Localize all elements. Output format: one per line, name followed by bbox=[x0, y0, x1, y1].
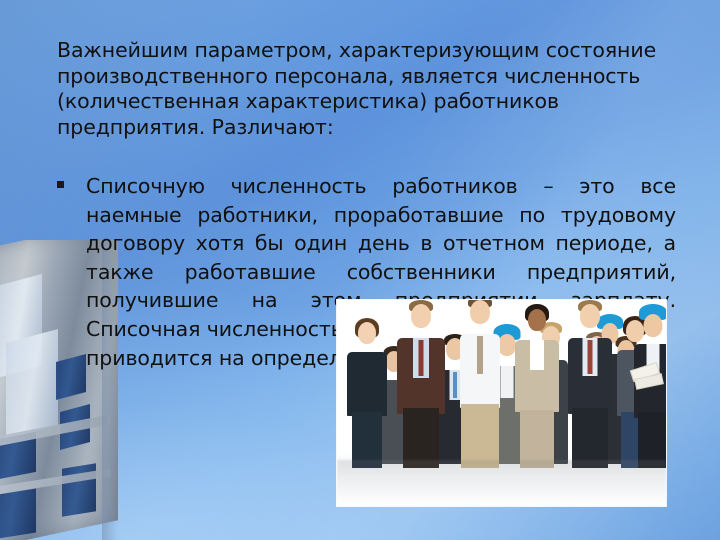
person-figure bbox=[565, 300, 615, 468]
lead-paragraph: Важнейшим параметром, характеризующим со… bbox=[57, 38, 667, 140]
person-figure bbox=[455, 300, 505, 468]
presentation-slide: Важнейшим параметром, характеризующим со… bbox=[0, 0, 720, 540]
square-bullet-icon bbox=[57, 181, 64, 188]
business-team-group-photo bbox=[337, 300, 666, 506]
floor-reflection bbox=[337, 460, 666, 506]
person-figure-woman bbox=[345, 318, 389, 468]
person-figure-woman bbox=[513, 304, 561, 468]
person-figure bbox=[395, 300, 447, 468]
person-figure-hardhat-engineer bbox=[633, 304, 666, 468]
